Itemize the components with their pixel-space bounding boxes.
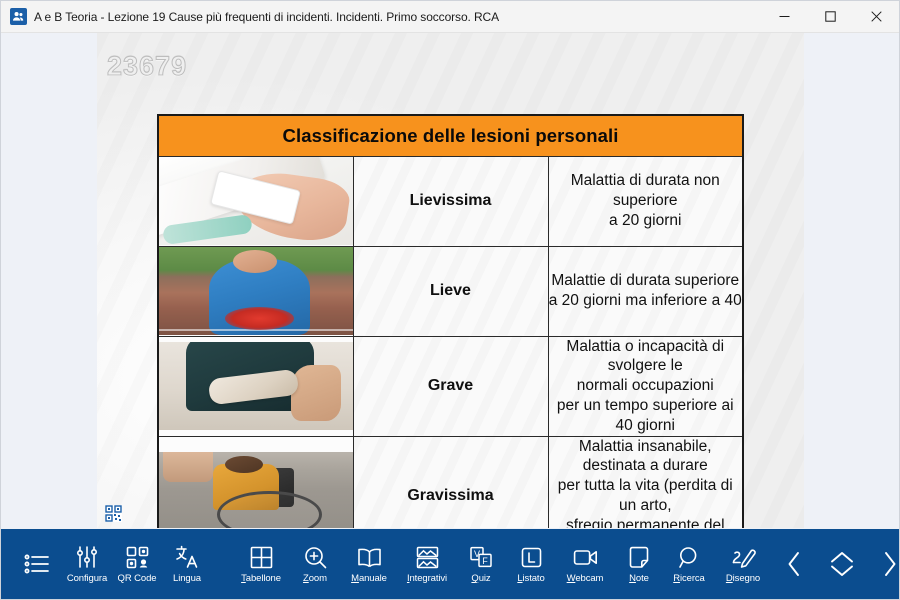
- table-title: Classificazione delle lesioni personali: [158, 115, 743, 156]
- bullet-list-glyph: [24, 551, 50, 577]
- toolbar-nav-group: [771, 535, 900, 593]
- lesion-classification-table: Classificazione delle lesioni personali …: [157, 114, 744, 528]
- toolbar-item-lingua[interactable]: Lingua: [163, 533, 211, 595]
- label-rest: istato: [523, 573, 545, 584]
- label-rest: ote: [636, 573, 649, 584]
- maximize-icon[interactable]: [807, 1, 853, 33]
- qr-code-icon: [105, 505, 122, 522]
- toolbar-label: Configura: [67, 574, 107, 584]
- toolbar-item-tabellone[interactable]: Tabellone: [233, 533, 289, 595]
- listing-icon: [520, 544, 543, 570]
- toolbar-item-zoom[interactable]: Zoom: [291, 533, 339, 595]
- toolbar-label: Disegno: [726, 574, 760, 584]
- accel-letter: N: [629, 573, 636, 584]
- updown-button[interactable]: [819, 535, 865, 593]
- lesion-description: Malattia insanabile, destinata a durare …: [548, 436, 743, 528]
- toolbar-label: QR Code: [118, 574, 157, 584]
- slide-number: 23679: [107, 51, 187, 82]
- lesion-description: Malattie di durata superiore a 20 giorni…: [548, 246, 743, 336]
- close-icon[interactable]: [853, 1, 899, 33]
- toolbar-item-ricerca[interactable]: Ricerca: [665, 533, 713, 595]
- label-rest: ntegrativi: [409, 573, 447, 584]
- table-row: Lievissima Malattia di durata non superi…: [158, 156, 743, 246]
- chevron-right-icon: [880, 549, 900, 579]
- slide-canvas: 23679 Classificazione delle lesioni pers…: [97, 33, 804, 528]
- toolbar-label: Ricerca: [673, 574, 705, 584]
- toolbar-item-quiz[interactable]: V F Quiz: [457, 533, 505, 595]
- minimize-icon[interactable]: [761, 1, 807, 33]
- table-row: Gravissima Malattia insanabile, destinat…: [158, 436, 743, 528]
- toolbar-item-integrativi[interactable]: Integrativi: [399, 533, 455, 595]
- toolbar-item-disegno[interactable]: Disegno: [715, 533, 771, 595]
- images-icon: [416, 544, 439, 570]
- pen-draw-icon: [731, 544, 756, 570]
- title-bar-left: A e B Teoria - Lezione 19 Cause più freq…: [1, 8, 761, 25]
- toolbar-item-note[interactable]: Note: [615, 533, 663, 595]
- lesion-name: Lieve: [353, 246, 548, 336]
- zoom-in-icon: [304, 544, 327, 570]
- bandaged-hand-photo: [158, 156, 353, 246]
- toolbar-label: Quiz: [471, 574, 490, 584]
- table-row: Lieve Malattie di durata superiore a 20 …: [158, 246, 743, 336]
- lesion-name: Lievissima: [353, 156, 548, 246]
- toolbar-item-configura[interactable]: Configura: [63, 533, 111, 595]
- label-rest: uiz: [479, 573, 491, 584]
- svg-text:F: F: [482, 556, 488, 566]
- toolbar-item-qr-code[interactable]: QR Code: [113, 533, 161, 595]
- bottom-toolbar: Configura QR Code: [1, 529, 899, 599]
- label-rest: icerca: [680, 573, 705, 584]
- toolbar-item-listato[interactable]: Listato: [507, 533, 555, 595]
- toolbar-item-webcam[interactable]: Webcam: [557, 533, 613, 595]
- wheelchair-photo: [158, 436, 353, 528]
- toolbar-item-manuale[interactable]: Manuale: [341, 533, 397, 595]
- lesion-description: Malattia o incapacità di svolgere le nor…: [548, 336, 743, 436]
- grid-table-icon: [250, 544, 273, 570]
- toolbar-label: Note: [629, 574, 649, 584]
- bullet-list-icon[interactable]: [13, 533, 61, 595]
- accel-letter: M: [351, 573, 359, 584]
- label-rest: anuale: [359, 573, 387, 584]
- search-icon: [678, 544, 701, 570]
- back-pain-runner-photo: [158, 246, 353, 336]
- toolbar-label: Lingua: [173, 574, 201, 584]
- next-button[interactable]: [867, 535, 900, 593]
- lesion-name: Grave: [353, 336, 548, 436]
- accel-letter: Q: [471, 573, 478, 584]
- toolbar-group-left: Configura QR Code: [13, 533, 211, 595]
- translate-icon: [175, 544, 199, 570]
- lesion-description: Malattia di durata non superiore a 20 gi…: [548, 156, 743, 246]
- true-false-icon: V F: [469, 544, 493, 570]
- arm-cast-photo: [158, 336, 353, 436]
- previous-button[interactable]: [771, 535, 817, 593]
- sliders-icon: [75, 544, 99, 570]
- accel-letter: R: [673, 573, 680, 584]
- toolbar-label: Tabellone: [241, 574, 281, 584]
- window-controls: [761, 1, 899, 33]
- slide-stage: 23679 Classificazione delle lesioni pers…: [1, 33, 899, 529]
- note-icon: [628, 544, 650, 570]
- window-title: A e B Teoria - Lezione 19 Cause più freq…: [34, 10, 499, 24]
- toolbar-label: Listato: [517, 574, 544, 584]
- accel-letter: D: [726, 573, 733, 584]
- lesion-name: Gravissima: [353, 436, 548, 528]
- table-header-row: Classificazione delle lesioni personali: [158, 115, 743, 156]
- label-rest: ebcam: [575, 573, 603, 584]
- chevron-up-down-icon: [828, 549, 856, 579]
- toolbar-label: Webcam: [567, 574, 604, 584]
- chevron-left-icon: [784, 549, 804, 579]
- label-rest: oom: [309, 573, 327, 584]
- toolbar-label: Manuale: [351, 574, 387, 584]
- qr-code-icon: [126, 544, 149, 570]
- label-rest: isegno: [733, 573, 760, 584]
- label-rest: abellone: [246, 573, 281, 584]
- app-window: A e B Teoria - Lezione 19 Cause più freq…: [0, 0, 900, 600]
- book-icon: [357, 544, 382, 570]
- title-bar: A e B Teoria - Lezione 19 Cause più freq…: [1, 1, 899, 33]
- toolbar-group-mid: Tabellone Zoom: [233, 533, 771, 595]
- table-row: Grave Malattia o incapacità di svolgere …: [158, 336, 743, 436]
- toolbar-label: Integrativi: [407, 574, 447, 584]
- people-icon: [10, 8, 27, 25]
- toolbar-label: Zoom: [303, 574, 327, 584]
- webcam-icon: [573, 544, 598, 570]
